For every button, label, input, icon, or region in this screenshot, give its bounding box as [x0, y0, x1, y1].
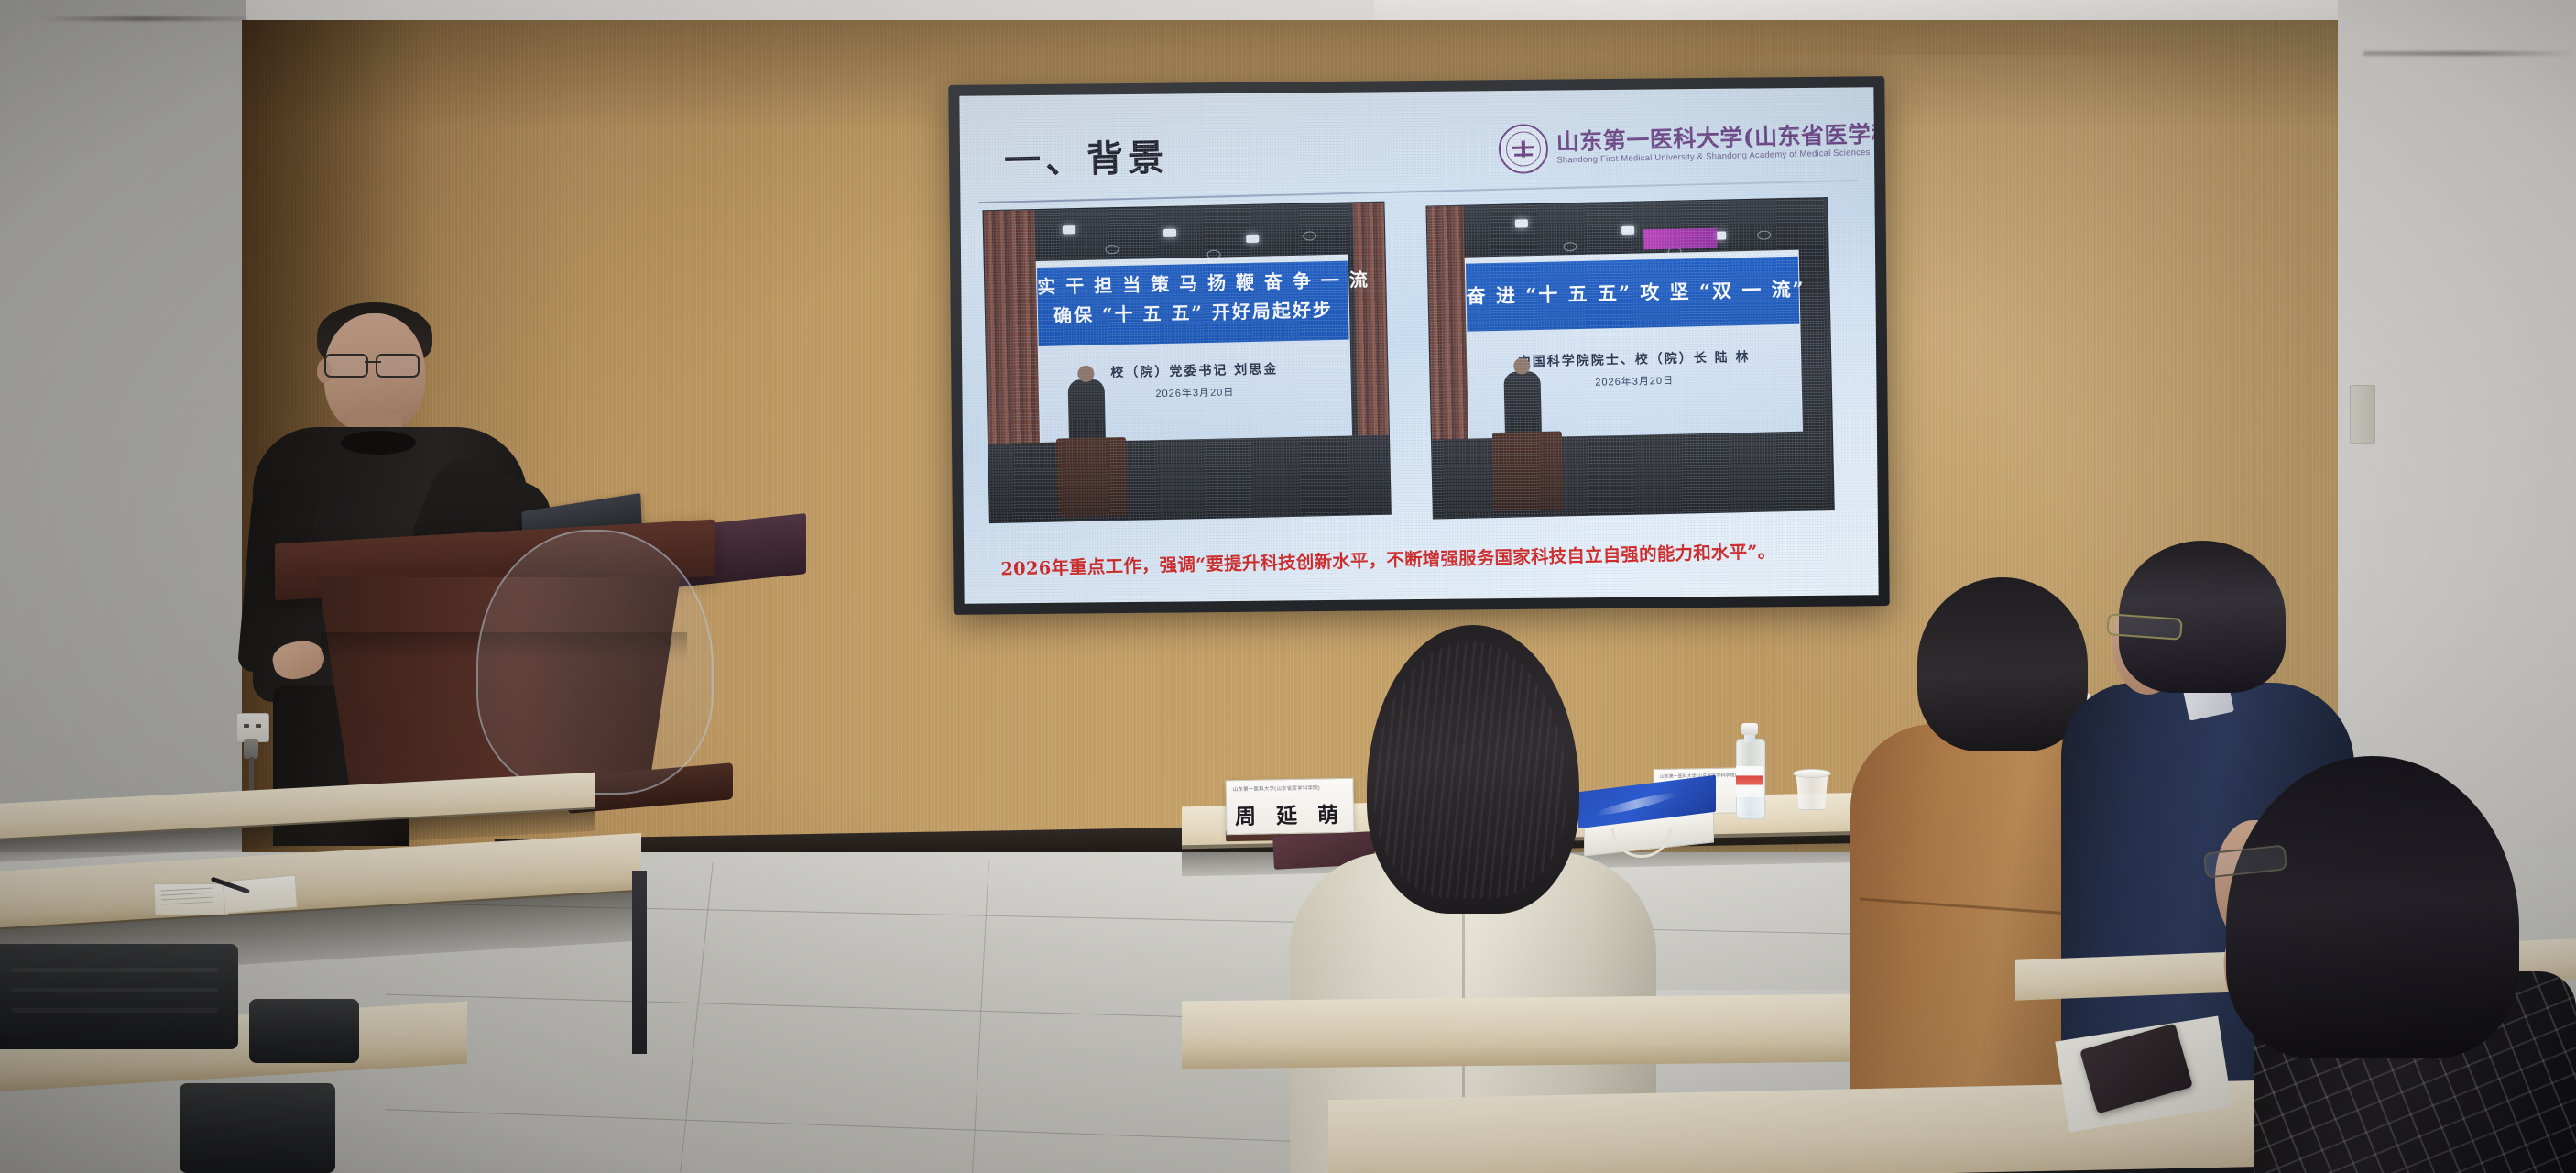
presenter-collar [341, 431, 416, 455]
wall-scuff-mark-right [2363, 51, 2576, 56]
wall-access-plate [2350, 385, 2375, 444]
conference-room-photo: 一、背景 山东第一医科大学(山东省医学科学院) Shandong First M… [0, 0, 2576, 1173]
presenter-eyeglasses [322, 354, 425, 376]
chair-left-2 [249, 999, 359, 1063]
water-bottle-2 [1736, 724, 1763, 819]
paper-cup-rim [1793, 769, 1831, 778]
stage-banner-left: 实 干 担 当 策 马 扬 鞭 奋 争 一 流 确保 “十 五 五” 开好局起好… [1037, 261, 1349, 346]
desk-leg [632, 871, 647, 1054]
slide-photo-left: 山东第一医科大学(山东省医学科学院) 实 干 担 当 策 马 扬 鞭 奋 争 一… [982, 202, 1391, 523]
slide-section-title: 一、背景 [1003, 128, 1169, 185]
nameplate-org-line: 山东第一医科大学(山东省医学科学院) [1233, 784, 1320, 793]
university-logo: 山东第一医科大学(山东省医学科学院) Shandong First Medica… [1498, 106, 1859, 183]
lectern-acrylic-panel [476, 530, 714, 795]
folder-graphic [1595, 790, 1678, 819]
attendee-2-hair [1917, 577, 2088, 751]
stage-banner-line-1: 实 干 担 当 策 马 扬 鞭 奋 争 一 流 [1037, 266, 1348, 299]
wall-scuff-mark-left [37, 16, 247, 21]
presentation-slide: 一、背景 山东第一医科大学(山东省医学科学院) Shandong First M… [959, 87, 1878, 604]
chair-left-1 [0, 944, 238, 1049]
notebook-right-page [223, 874, 298, 914]
stage-banner-right: 奋 进 “十 五 五” 攻 坚 “双 一 流” [1466, 257, 1800, 332]
chair-left-3 [180, 1083, 335, 1173]
nameplate-person-name: 周 延 萌 [1227, 797, 1354, 830]
university-seal-icon [1498, 124, 1548, 174]
slide-caption-text: 2026年重点工作，强调“要提升科技创新水平，不断增强服务国家科技自立自强的能力… [1000, 534, 1852, 580]
magenta-light-panel [1643, 228, 1717, 250]
led-display-bezel: 一、背景 山东第一医科大学(山东省医学科学院) Shandong First M… [948, 76, 1890, 615]
stage-banner-line-2: 确保 “十 五 五” 开好局起好步 [1038, 295, 1349, 328]
presenter-eyeglasses-bridge [365, 361, 381, 363]
led-display-screen: 一、背景 山东第一医科大学(山东省医学科学院) Shandong First M… [959, 87, 1878, 604]
nameplate-primary: 山东第一医科大学(山东省医学科学院) 周 延 萌 [1225, 778, 1354, 835]
slide-photo-right: 山东第一医科大学(山东省医学科学院) 奋 进 “十 五 五” 攻 坚 “双 一 … [1425, 197, 1834, 519]
blue-folder [1578, 784, 1716, 850]
left-wall [0, 0, 246, 916]
stage-banner-right-line-1: 奋 进 “十 五 五” 攻 坚 “双 一 流” [1466, 275, 1799, 310]
